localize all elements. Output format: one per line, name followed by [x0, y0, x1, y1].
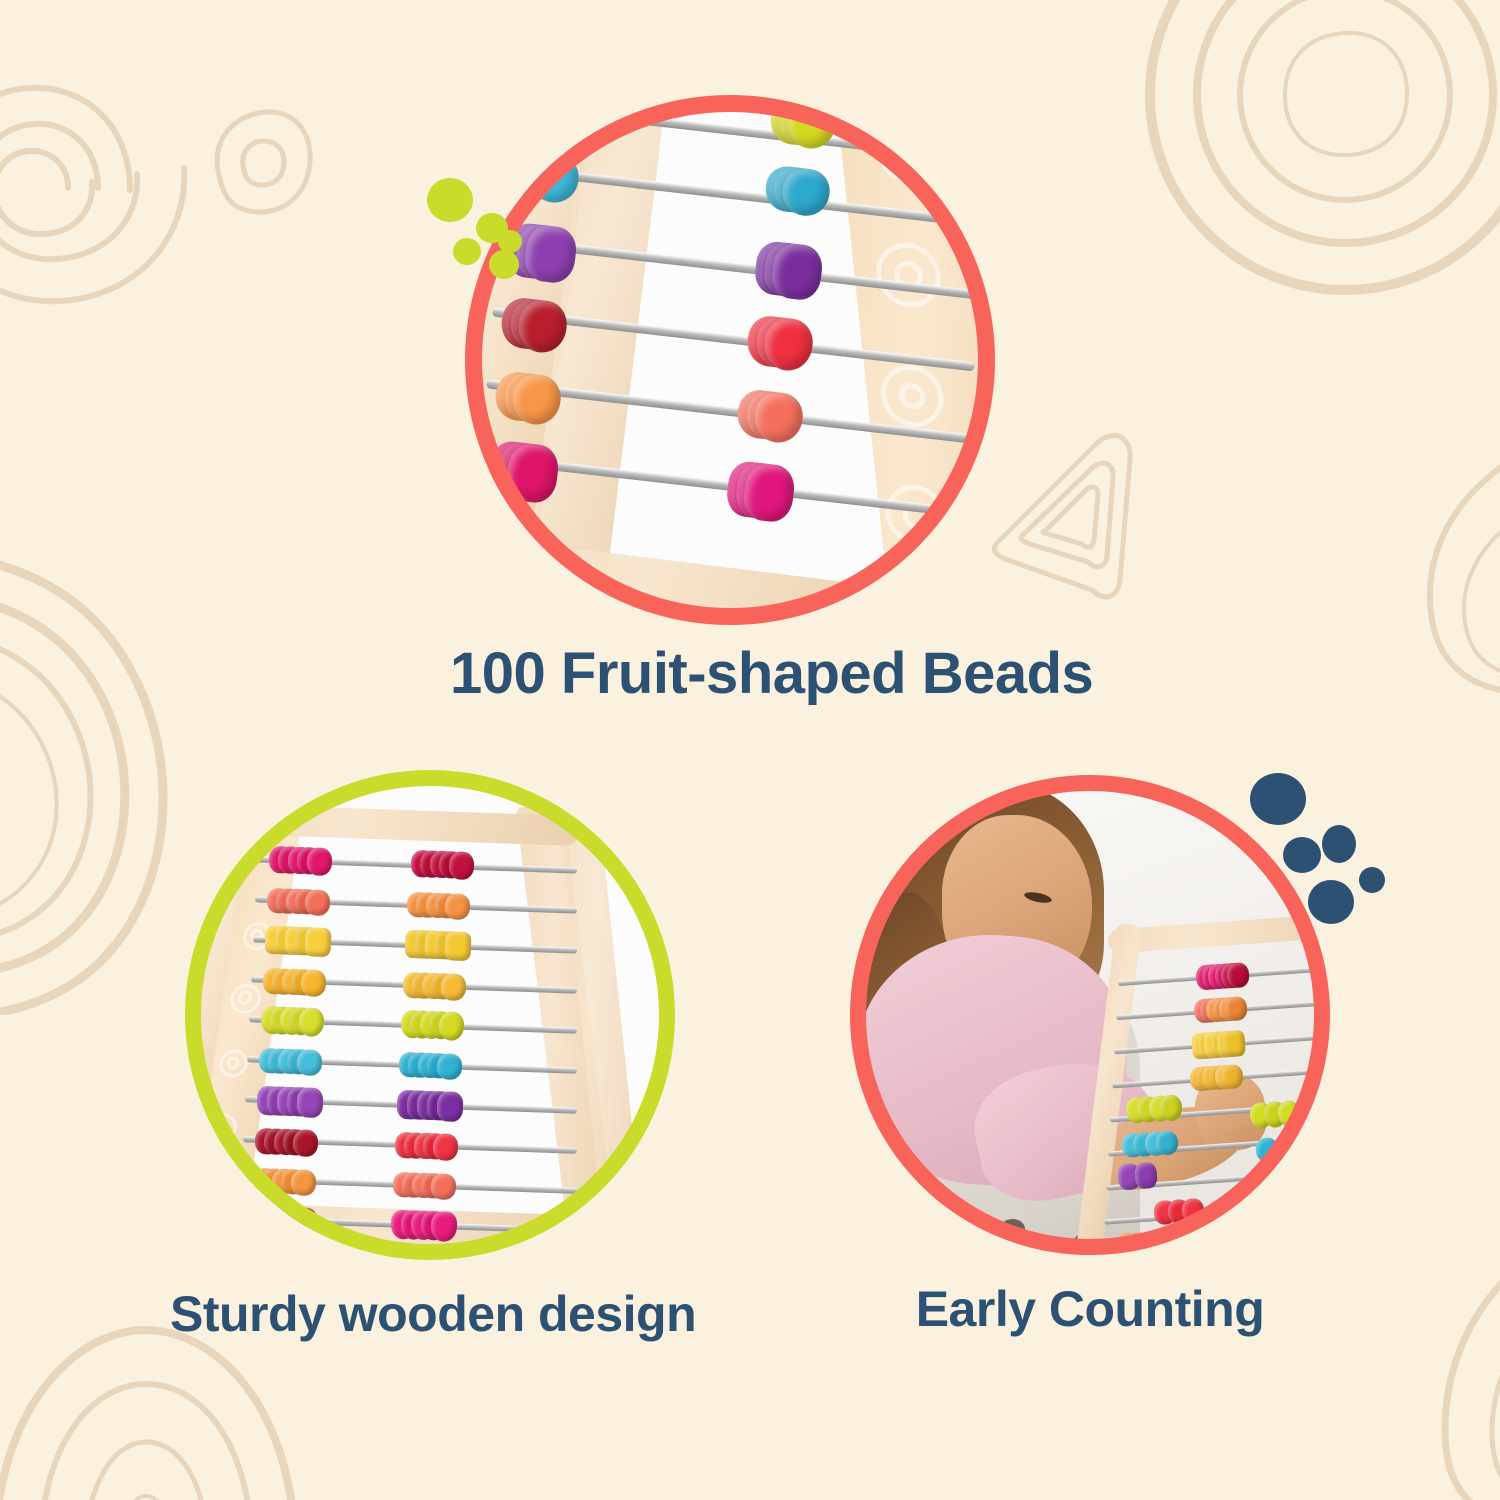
doodle-blob-rings-top-left [198, 98, 328, 228]
feature-card-beads: 100 Fruit-shaped Beads [450, 95, 1010, 625]
beads-photo-frame [465, 95, 995, 625]
feature-card-wood: Sturdy wooden design [170, 770, 690, 1260]
wood-photo-frame [185, 770, 675, 1260]
decor-dot-navy [1308, 880, 1354, 924]
doodle-rings-top-right [1135, 0, 1500, 305]
bead-group [399, 1052, 521, 1082]
bead-group [1153, 1197, 1221, 1226]
bead-group [1277, 1170, 1301, 1197]
decor-dot-lime [489, 250, 519, 279]
decor-dot-navy [1283, 837, 1321, 873]
bead-group [395, 1132, 517, 1163]
girl-playing-scene [850, 775, 1330, 1255]
bead-group [261, 1006, 383, 1039]
bead-group [403, 972, 525, 1003]
bead-group [391, 1210, 518, 1244]
bead-group [259, 1048, 381, 1078]
bead-group [1249, 1099, 1317, 1130]
bead-group [251, 1206, 378, 1240]
doodle-wave-mid-right [1400, 440, 1500, 700]
decor-dot-navy [1322, 825, 1356, 863]
bead-group [411, 850, 533, 882]
doodle-spiral-top-left [0, 0, 310, 380]
bead-group [265, 926, 392, 959]
bead-group [405, 930, 532, 963]
bead-group [401, 1010, 523, 1043]
bead-group [407, 892, 529, 922]
bead-group [1255, 1135, 1301, 1162]
abacus-full-scene [185, 770, 675, 1260]
feature-card-counting: Early Counting [835, 775, 1345, 1255]
bead-group [397, 1090, 524, 1124]
counting-caption: Early Counting [835, 1280, 1345, 1338]
bead-group [393, 1172, 515, 1202]
bead-group [263, 968, 385, 999]
counting-photo-frame [850, 775, 1330, 1255]
bead-group [267, 888, 389, 918]
beads-photo [465, 95, 995, 625]
abacus-closeup-scene [465, 95, 995, 625]
counting-photo [850, 775, 1330, 1255]
wood-photo [185, 770, 675, 1260]
decor-dot-lime [453, 238, 481, 265]
decor-dot-navy [1359, 867, 1385, 893]
beads-caption: 100 Fruit-shaped Beads [450, 640, 1010, 707]
bead-group [253, 1168, 375, 1198]
wood-caption: Sturdy wooden design [170, 1285, 690, 1343]
doodle-arc-bottom-right [1390, 1200, 1500, 1500]
bead-group [1117, 1161, 1163, 1190]
bead-group [257, 1086, 384, 1120]
decor-dot-navy [1250, 773, 1306, 825]
bead-group [255, 1128, 377, 1159]
decor-dot-lime [427, 178, 473, 222]
bead-group [269, 846, 391, 878]
